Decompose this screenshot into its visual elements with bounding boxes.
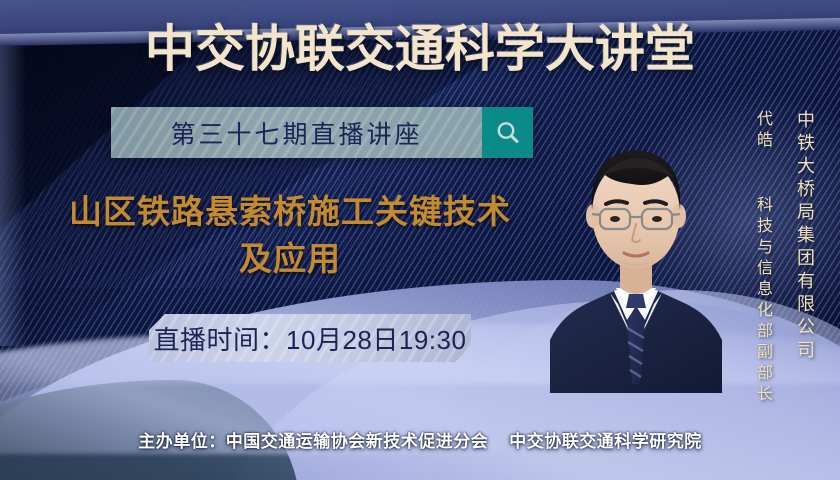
speaker-name-and-role: 代皓 科技与信息化部副部长 <box>750 110 774 406</box>
lecture-title-line-2: 及应用 <box>20 235 560 282</box>
poster-canvas: 中交协联交通科学大讲堂 第三十七期直播讲座 山区铁路悬索桥施工关键技术 及应用 … <box>0 0 840 480</box>
lecture-title: 山区铁路悬索桥施工关键技术 及应用 <box>20 188 560 282</box>
search-button[interactable] <box>482 107 533 158</box>
speaker-portrait <box>548 88 724 393</box>
lecture-title-line-1: 山区铁路悬索桥施工关键技术 <box>69 193 511 230</box>
episode-label: 第三十七期直播讲座 <box>170 115 422 151</box>
episode-banner: 第三十七期直播讲座 <box>111 107 533 158</box>
organizers-footer: 主办单位：中国交通运输协会新技术促进分会 中交协联交通科学研究院 <box>0 427 840 452</box>
page-title: 中交协联交通科学大讲堂 <box>0 18 840 80</box>
search-icon <box>493 118 523 148</box>
episode-label-area: 第三十七期直播讲座 <box>111 107 482 158</box>
broadcast-time-badge: 直播时间：10月28日19:30 <box>149 314 471 362</box>
speaker-organization: 中铁大桥局集团有限公司 <box>792 110 818 363</box>
broadcast-time-text: 直播时间：10月28日19:30 <box>154 320 467 357</box>
